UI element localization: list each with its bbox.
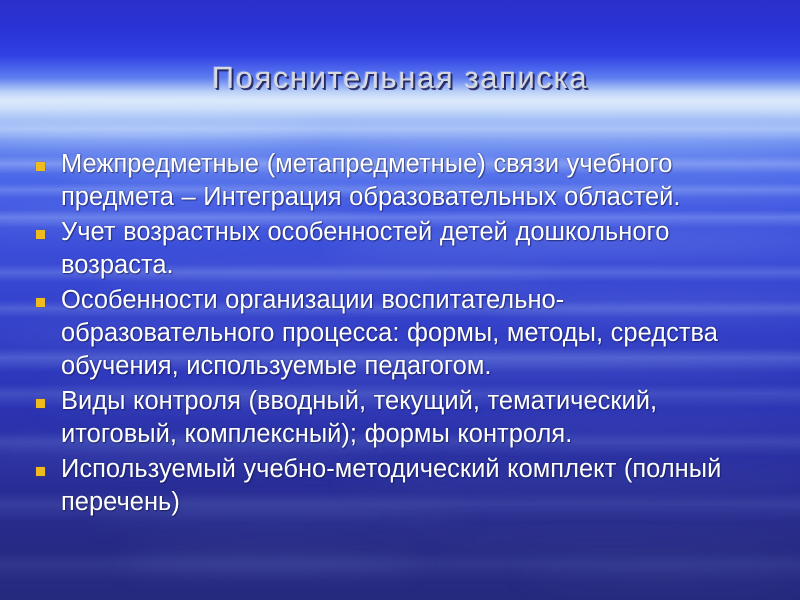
presentation-slide: Пояснительная записка Межпредметные (мет… xyxy=(0,0,800,600)
cloud-wisp xyxy=(520,566,800,580)
cloud-wisp xyxy=(380,534,800,547)
list-item: Виды контроля (вводный, текущий, тематич… xyxy=(30,385,775,451)
cloud-wisp xyxy=(0,126,320,142)
cloud-wisp xyxy=(120,552,420,568)
list-item-label: Межпредметные (метапредметные) связи уче… xyxy=(61,148,775,214)
list-item: Особенности организации воспитательно-об… xyxy=(30,284,775,383)
bullet-square-icon xyxy=(36,162,45,171)
list-item-label: Виды контроля (вводный, текущий, тематич… xyxy=(61,385,775,451)
bullet-square-icon xyxy=(36,467,45,476)
list-item-label: Особенности организации воспитательно-об… xyxy=(61,284,775,383)
slide-title-container: Пояснительная записка xyxy=(0,60,800,96)
list-item-label: Используемый учебно-методический комплек… xyxy=(61,453,775,519)
slide-bullet-list: Межпредметные (метапредметные) связи уче… xyxy=(30,148,775,521)
list-item-label: Учет возрастных особенностей детей дошко… xyxy=(61,216,775,282)
bullet-square-icon xyxy=(36,230,45,239)
list-item: Учет возрастных особенностей детей дошко… xyxy=(30,216,775,282)
page-title: Пояснительная записка xyxy=(212,60,588,96)
list-item: Межпредметные (метапредметные) связи уче… xyxy=(30,148,775,214)
bullet-square-icon xyxy=(36,298,45,307)
list-item: Используемый учебно-методический комплек… xyxy=(30,453,775,519)
bullet-square-icon xyxy=(36,399,45,408)
